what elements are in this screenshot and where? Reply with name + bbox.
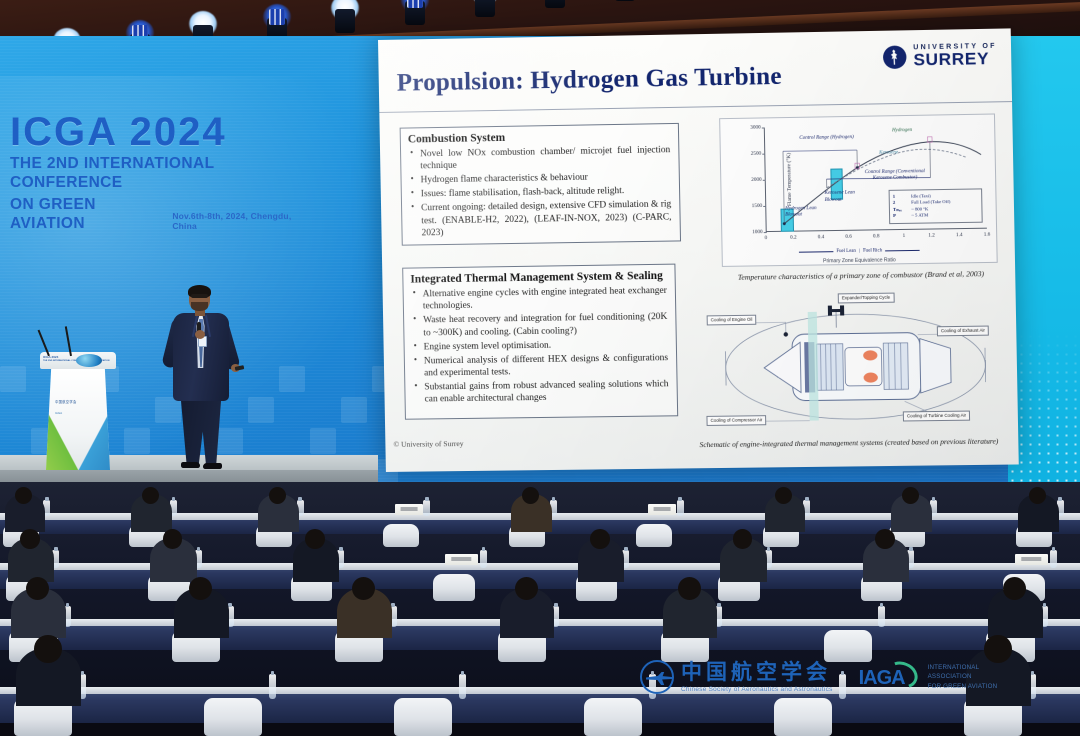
stage-light-spot (330, 0, 360, 35)
presenter-left-shoe (181, 462, 200, 468)
audience-member-head (142, 487, 159, 504)
audience-member-head (1029, 487, 1046, 504)
y-tick: 1000 (752, 229, 763, 235)
label-fuel-rich: Fuel Rich (863, 248, 882, 253)
bullet-item: Novel low NOx combustion chamber/ microj… (409, 144, 671, 173)
csaa-name-en: Chinese Society of Aeronautics and Astro… (681, 686, 833, 693)
audience-member-head (590, 529, 610, 549)
presenter (155, 286, 247, 468)
slide-title: Propulsion: Hydrogen Gas Turbine (397, 63, 782, 98)
iaga-line1: INTERNATIONAL (928, 663, 998, 672)
university-of-surrey-logo: UNIVERSITY OF SURREY (883, 43, 997, 70)
water-bottle (459, 674, 466, 699)
chart-plot-area: Flame Temperature (°K) (764, 124, 987, 232)
name-placard (1015, 554, 1047, 565)
audience-member-head (984, 635, 1012, 663)
podium-top: ICGA 2024 THE 2ND INTERNATIONAL CONFEREN… (40, 352, 116, 369)
bullet-item: Numerical analysis of different HEX desi… (413, 352, 669, 380)
csaa-logo: 中国航空学会 Chinese Society of Aeronautics an… (640, 660, 833, 694)
surrey-stag-icon (883, 45, 907, 69)
thermal-management-box: Integrated Thermal Management System & S… (402, 264, 678, 420)
water-bottle (1050, 550, 1057, 568)
name-placard (395, 504, 423, 515)
y-tick: 1500 (752, 203, 763, 209)
x-tick: 1.6 (984, 232, 991, 238)
conference-banner: ICGA 2024 THE 2ND INTERNATIONAL CONFEREN… (10, 112, 310, 234)
stage-light-spot (470, 0, 500, 19)
iaga-mark-icon: IAGA (859, 662, 921, 692)
stage-light-blue (400, 0, 430, 27)
legend-key-3: P (893, 213, 906, 220)
podium-body: 中国航空学会 IAGA (46, 369, 110, 470)
bullet-item: Current ongoing: detailed design, extens… (410, 198, 672, 239)
banner-title: ICGA 2024 (10, 112, 310, 152)
x-tick: 1 (903, 233, 906, 239)
csaa-aircraft-icon (640, 660, 674, 694)
annotation-hydrogen-lean-blowout: Hydrogen Lean Blowout (785, 206, 826, 219)
x-tick: 0.4 (818, 234, 825, 240)
water-bottle (480, 550, 487, 568)
label-fuel-lean: Fuel Lean (836, 249, 856, 254)
podium-logo-primary: 中国航空学会 (55, 399, 77, 404)
audience-desk (0, 690, 1080, 723)
engine-schematic: Cooling of Engine Oil Expander/Topping C… (702, 289, 1009, 444)
projected-slide: Propulsion: Hydrogen Gas Turbine UNIVERS… (378, 28, 1019, 472)
combustion-system-box: Combustion System Novel low NOx combusti… (400, 123, 681, 246)
cyan-side-panel (1008, 36, 1080, 482)
x-tick: 0.2 (790, 235, 797, 241)
x-tick: 1.4 (956, 232, 963, 238)
title-divider (379, 101, 1012, 113)
flame-temperature-chart: Flame Temperature (°K) (719, 113, 998, 266)
presentation-clicker (235, 365, 245, 371)
audience-chair (383, 524, 419, 547)
audience-chair (204, 698, 262, 736)
audience-member-head (522, 487, 539, 504)
presenter-left-hand (195, 330, 205, 339)
surrey-logo-line2: SURREY (913, 50, 997, 69)
podium-globe-icon (76, 354, 102, 367)
callout-expander-topping-cycle: Expander/Topping Cycle (838, 293, 895, 303)
iaga-logo: IAGA INTERNATIONAL ASSOCIATION FOR GREEN… (859, 662, 998, 692)
thermal-bullet-list: Alternative engine cycles with engine in… (412, 285, 669, 406)
audience-member-head (678, 577, 701, 600)
y-tick: 2500 (751, 151, 762, 157)
audience-chair (824, 630, 872, 662)
annotation-control-range-hydrogen: Control Range (Hydrogen) (799, 135, 854, 142)
thermal-heading: Integrated Thermal Management System & S… (410, 270, 674, 286)
speaker-podium: ICGA 2024 THE 2ND INTERNATIONAL CONFEREN… (40, 352, 116, 470)
water-bottle (269, 674, 276, 699)
audience-chair (433, 574, 474, 601)
y-tick: 2000 (751, 177, 762, 183)
x-tick: 0.8 (873, 233, 880, 239)
audience-member-head (902, 487, 919, 504)
y-tick: 3000 (750, 125, 761, 131)
legend-text-3: ~ 5 ATM (911, 212, 928, 219)
audience-member-head (305, 529, 325, 549)
audience-chair (774, 698, 832, 736)
callout-cooling-turbine-cooling-air: Cooling of Turbine Cooling Air (903, 411, 970, 422)
banner-subtitle-line1: THE 2ND INTERNATIONAL CONFERENCE (10, 155, 310, 193)
audience-member-head (20, 529, 40, 549)
name-placard (648, 504, 676, 515)
presenter-beard (191, 302, 208, 311)
banner-subtitle-line2: ON GREEN AVIATION (10, 196, 165, 234)
stage-light-blue (540, 0, 570, 10)
callout-cooling-engine-oil: Cooling of Engine Oil (707, 315, 757, 325)
callout-cooling-exhaust-air: Cooling of Exhaust Air (937, 326, 989, 336)
audience-member-head (875, 529, 895, 549)
annotation-kerosene-lean-blowout: Kerosene Lean Blowout (825, 191, 868, 204)
audience-member-head (269, 487, 286, 504)
banner-date-location: Nov.6th-8th, 2024, Chengdu, China (172, 211, 310, 234)
iaga-line2: ASSOCIATION (928, 672, 998, 681)
annotation-kerosene-curve: Kerosene (879, 150, 898, 157)
presenter-legs (179, 398, 223, 468)
chart-legend: 1Idle (Taxi) 2Full Load (Take Off) Tₘₐₓ~… (889, 188, 983, 224)
audience-member-head (733, 529, 753, 549)
chart-caption: Temperature characteristics of a primary… (714, 269, 1008, 283)
audience-member-head (34, 635, 62, 663)
callout-cooling-compressor-air: Cooling of Compressor Air (706, 415, 766, 425)
x-tick: 1.2 (928, 233, 935, 239)
annotation-hydrogen-curve: Hydrogen (892, 128, 912, 135)
combustion-heading: Combustion System (408, 129, 678, 146)
water-bottle (677, 500, 684, 516)
audience-chair (584, 698, 642, 736)
slide-copyright: © University of Surrey (393, 439, 463, 449)
x-tick: 0.6 (845, 234, 852, 240)
iaga-line3: FOR GREEN AVIATION (928, 682, 998, 691)
audience-member-head (163, 529, 183, 549)
stage-light-spot (610, 0, 640, 3)
annotation-control-range-kerosene: Control Range (Conventional Kerosene Com… (857, 169, 932, 183)
x-tick: 0 (764, 235, 767, 241)
sponsor-logos: 中国航空学会 Chinese Society of Aeronautics an… (640, 660, 997, 694)
bullet-item: Substantial gains from robust advanced s… (413, 378, 669, 406)
csaa-name-cn: 中国航空学会 (681, 662, 833, 683)
water-bottle (878, 606, 885, 627)
bullet-item: Alternative engine cycles with engine in… (412, 285, 668, 314)
bullet-item: Waste heat recovery and integration for … (412, 311, 668, 339)
conference-hall-scene: ICGA 2024 THE 2ND INTERNATIONAL CONFEREN… (0, 0, 1080, 718)
audience-chair (636, 524, 672, 547)
presenter-glasses (191, 294, 208, 298)
audience-chair (394, 698, 452, 736)
name-placard (445, 554, 477, 565)
presenter-right-shoe (203, 463, 222, 469)
combustion-bullet-list: Novel low NOx combustion chamber/ microj… (409, 144, 672, 240)
podium-logo-secondary: IAGA (55, 411, 62, 415)
water-bottle (423, 500, 430, 516)
dot-pattern (1008, 332, 1080, 482)
